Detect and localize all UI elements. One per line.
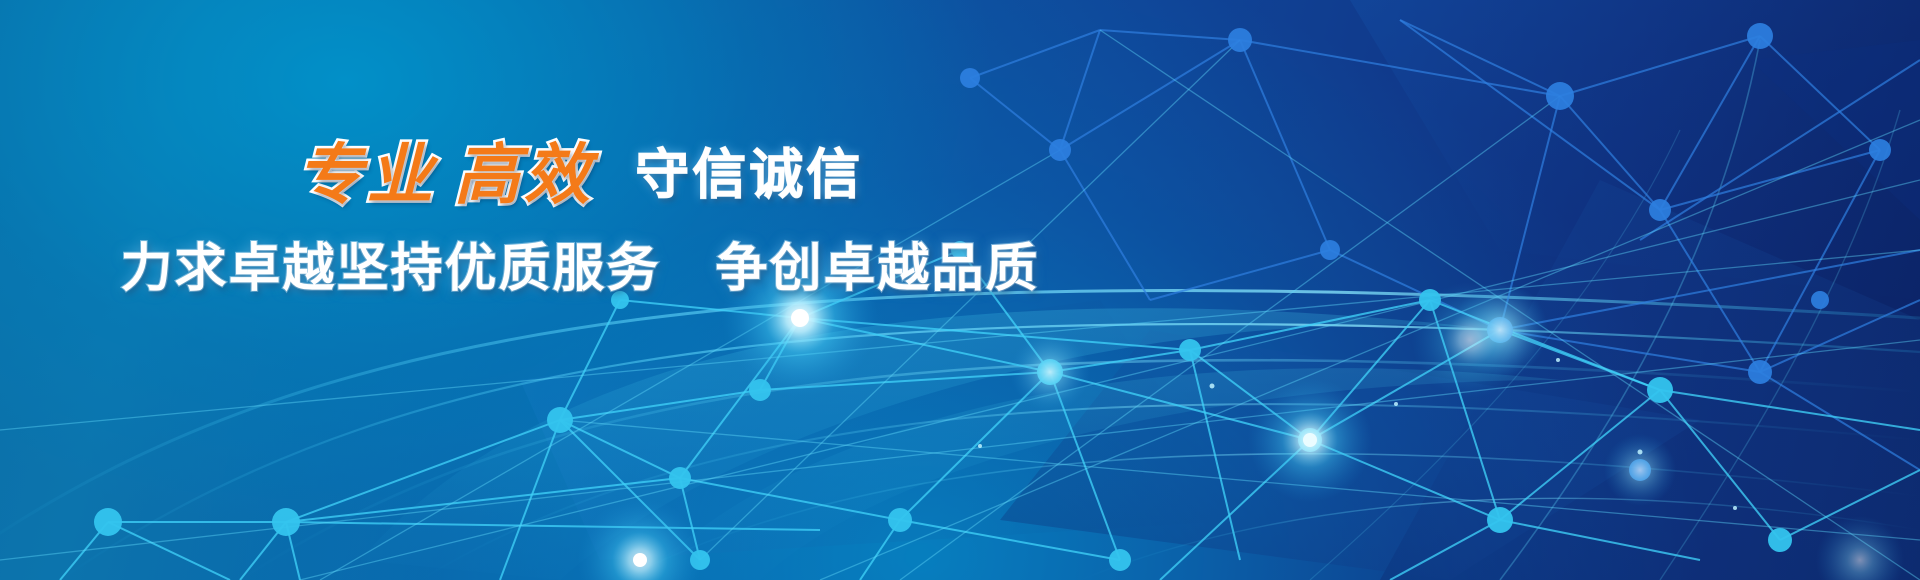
hero-banner: 专业 高效 守信诚信 力求卓越坚持优质服务 争创卓越品质 <box>0 0 1920 580</box>
network-mesh-graphic <box>0 0 1920 580</box>
mesh-node-group-blue <box>960 23 1891 481</box>
mesh-edges-cyan <box>60 250 1920 580</box>
mesh-node-group-cyan <box>94 241 1792 571</box>
mesh-edges-right <box>970 20 1920 470</box>
